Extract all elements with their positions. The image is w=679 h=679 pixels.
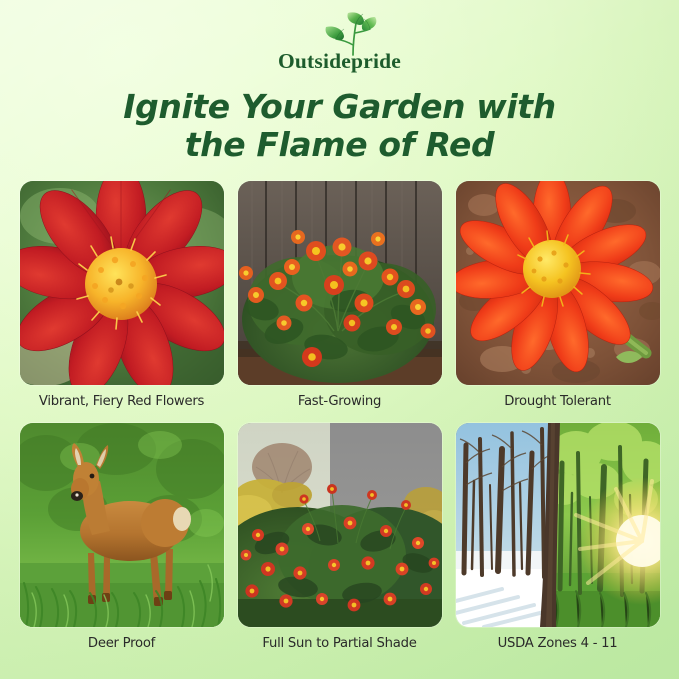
sun-shade-split-bush-photo <box>238 423 442 627</box>
feature-caption: Drought Tolerant <box>504 394 611 409</box>
feature-caption: Vibrant, Fiery Red Flowers <box>39 394 204 409</box>
feature-cell: USDA Zones 4 - 11 <box>454 423 662 651</box>
headline-line-2: the Flame of Red <box>0 126 679 164</box>
brand-logo: Outsidepride <box>255 11 425 77</box>
flower-in-dry-soil-photo <box>456 181 660 385</box>
brand-name-text: Outsidepride <box>255 51 425 73</box>
winter-summer-forest-split-photo <box>456 423 660 627</box>
feature-cell: Deer Proof <box>18 423 226 651</box>
headline-line-1: Ignite Your Garden with <box>123 87 555 126</box>
page-title: Ignite Your Garden with the Flame of Red <box>0 88 679 165</box>
feature-cell: Full Sun to Partial Shade <box>236 423 444 651</box>
feature-caption: Full Sun to Partial Shade <box>262 636 416 651</box>
feature-cell: Vibrant, Fiery Red Flowers <box>18 181 226 423</box>
feature-caption: Deer Proof <box>88 636 155 651</box>
flowering-bush-fence-photo <box>238 181 442 385</box>
feature-caption: USDA Zones 4 - 11 <box>498 636 618 651</box>
feature-cell: Fast-Growing <box>236 181 444 423</box>
feature-cell: Drought Tolerant <box>454 181 662 423</box>
deer-in-grass-photo <box>20 423 224 627</box>
feature-caption: Fast-Growing <box>298 394 381 409</box>
red-flower-closeup-photo <box>20 181 224 385</box>
feature-grid: Vibrant, Fiery Red Flowers <box>18 181 662 651</box>
poster-header: Outsidepride Ignite Your Garden with the… <box>0 0 679 165</box>
product-infographic-poster: Outsidepride Ignite Your Garden with the… <box>0 0 679 679</box>
